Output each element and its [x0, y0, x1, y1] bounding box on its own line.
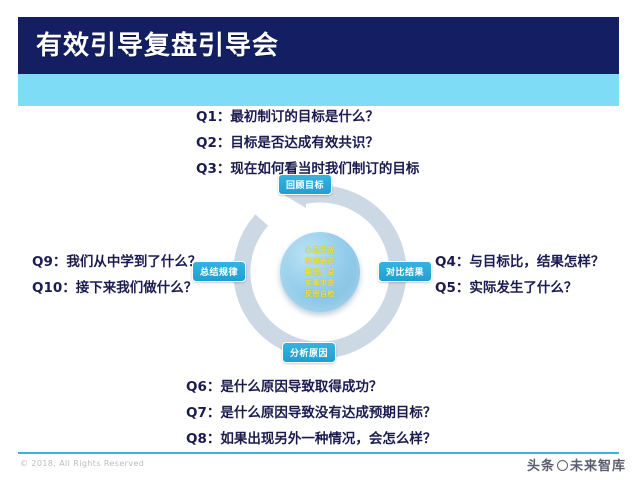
core-principles-sphere: 心态开放 坦诚表达 集思广益 实事求是 反思自检	[280, 232, 360, 312]
stage-label-analyze-cause: 分析原因	[282, 342, 336, 363]
slide-canvas: 有效引导复盘引导会 Q1：最初制订的目标是什么？ Q2：目标是否达成有效共识？ …	[0, 0, 640, 480]
review-cycle-diagram: 心态开放 坦诚表达 集思广益 实事求是 反思自检 回顾目标 对比结果 分析原因 …	[196, 178, 444, 366]
question-q5: Q5：实际发生了什么？	[435, 275, 604, 301]
core-principle-5: 反思自检	[305, 289, 335, 300]
core-principle-1: 心态开放	[305, 245, 335, 256]
footer-copyright: © 2018, All Rights Reserved	[20, 459, 144, 468]
watermark: 头条未来智库	[527, 455, 626, 474]
question-q2: Q2：目标是否达成有效共识？	[196, 130, 419, 156]
watermark-suffix: 未来智库	[570, 459, 626, 474]
watermark-prefix: 头条	[527, 459, 555, 474]
watermark-at-icon	[557, 460, 568, 471]
question-group-right: Q4：与目标比，结果怎样？ Q5：实际发生了什么？	[435, 249, 604, 301]
question-q10: Q10：接下来我们做什么？	[32, 275, 201, 301]
footer-divider	[18, 452, 619, 454]
question-group-left: Q9：我们从中学到了什么？ Q10：接下来我们做什么？	[32, 249, 201, 301]
stage-label-summarize-rule: 总结规律	[192, 261, 246, 282]
question-q4: Q4：与目标比，结果怎样？	[435, 249, 604, 275]
question-group-bottom: Q6：是什么原因导致取得成功？ Q7：是什么原因导致没有达成预期目标？ Q8：如…	[186, 374, 436, 452]
stage-label-review-goal: 回顾目标	[278, 174, 332, 195]
stage-label-compare-result: 对比结果	[378, 261, 432, 282]
core-principle-2: 坦诚表达	[305, 256, 335, 267]
core-principle-4: 实事求是	[305, 278, 335, 289]
question-q6: Q6：是什么原因导致取得成功？	[186, 374, 436, 400]
page-title: 有效引导复盘引导会	[36, 33, 279, 59]
question-q7: Q7：是什么原因导致没有达成预期目标？	[186, 400, 436, 426]
question-q1: Q1：最初制订的目标是什么？	[196, 104, 419, 130]
title-bar: 有效引导复盘引导会	[18, 17, 619, 74]
core-principle-3: 集思广益	[305, 267, 335, 278]
question-q8: Q8：如果出现另外一种情况，会怎么样？	[186, 426, 436, 452]
question-group-top: Q1：最初制订的目标是什么？ Q2：目标是否达成有效共识？ Q3：现在如何看当时…	[196, 104, 419, 182]
header-accent-band	[18, 74, 619, 106]
question-q9: Q9：我们从中学到了什么？	[32, 249, 201, 275]
